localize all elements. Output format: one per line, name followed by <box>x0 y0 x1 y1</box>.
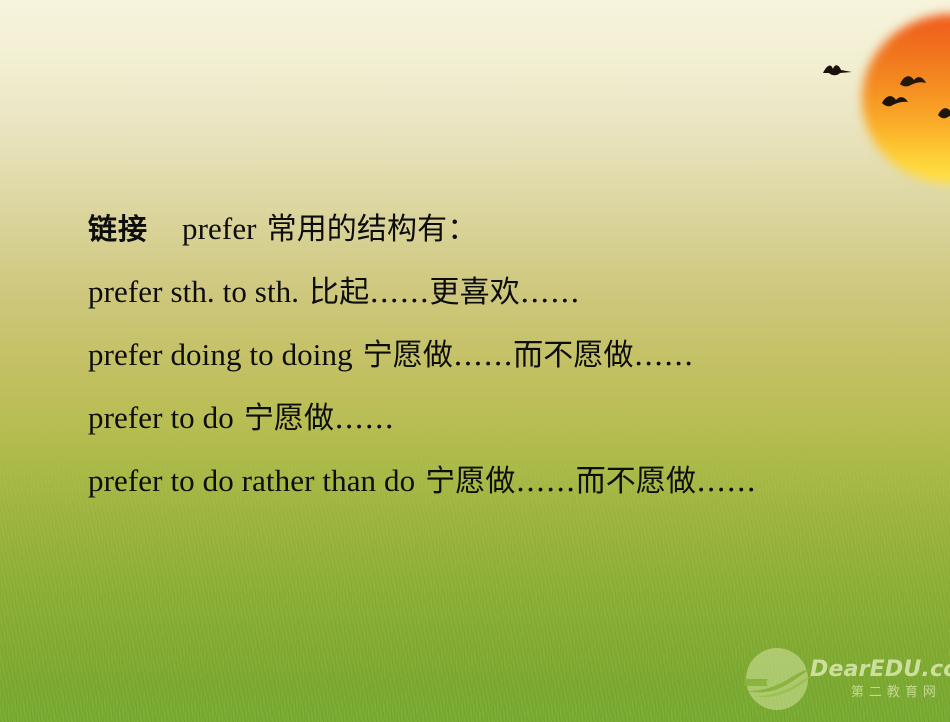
slide-canvas: 链接prefer常用的结构有： prefer sth. to sth.比起……更… <box>0 0 950 722</box>
bird-icon <box>880 92 910 110</box>
slide-text-body: 链接prefer常用的结构有： prefer sth. to sth.比起……更… <box>88 198 878 513</box>
logo-emblem-icon <box>746 648 808 710</box>
heading-line: 链接prefer常用的结构有： <box>88 198 878 261</box>
bird-icon <box>820 60 854 80</box>
structure-cn: 比起……更喜欢…… <box>309 275 580 310</box>
structure-cn: 宁愿做……而不愿做…… <box>425 464 756 499</box>
structure-line: prefer to do rather than do宁愿做……而不愿做…… <box>88 450 878 513</box>
structure-en: prefer to do <box>88 400 234 435</box>
heading-label: 链接 <box>88 212 148 246</box>
heading-keyword: prefer <box>182 211 257 246</box>
logo-disc <box>746 648 808 710</box>
sun-glow <box>836 0 950 210</box>
structure-line: prefer to do宁愿做…… <box>88 387 878 450</box>
structure-en: prefer doing to doing <box>88 337 353 372</box>
bird-icon <box>898 72 928 90</box>
bird-icon <box>936 104 950 122</box>
structure-line: prefer sth. to sth.比起……更喜欢…… <box>88 261 878 324</box>
logo-text-block: DearEDU.com 第二教育网 <box>810 659 950 699</box>
structure-cn: 宁愿做…… <box>244 401 395 436</box>
heading-rest: 常用的结构有： <box>267 212 478 247</box>
logo-subtitle: 第二教育网 <box>810 686 950 699</box>
logo-title: DearEDU.com <box>810 659 950 681</box>
watermark-logo: DearEDU.com 第二教育网 <box>746 646 944 712</box>
structure-en: prefer sth. to sth. <box>88 274 299 309</box>
sun-disc <box>862 14 950 184</box>
structure-en: prefer to do rather than do <box>88 463 415 498</box>
sun-icon <box>862 14 950 184</box>
structure-cn: 宁愿做……而不愿做…… <box>363 338 694 373</box>
structure-line: prefer doing to doing宁愿做……而不愿做…… <box>88 324 878 387</box>
